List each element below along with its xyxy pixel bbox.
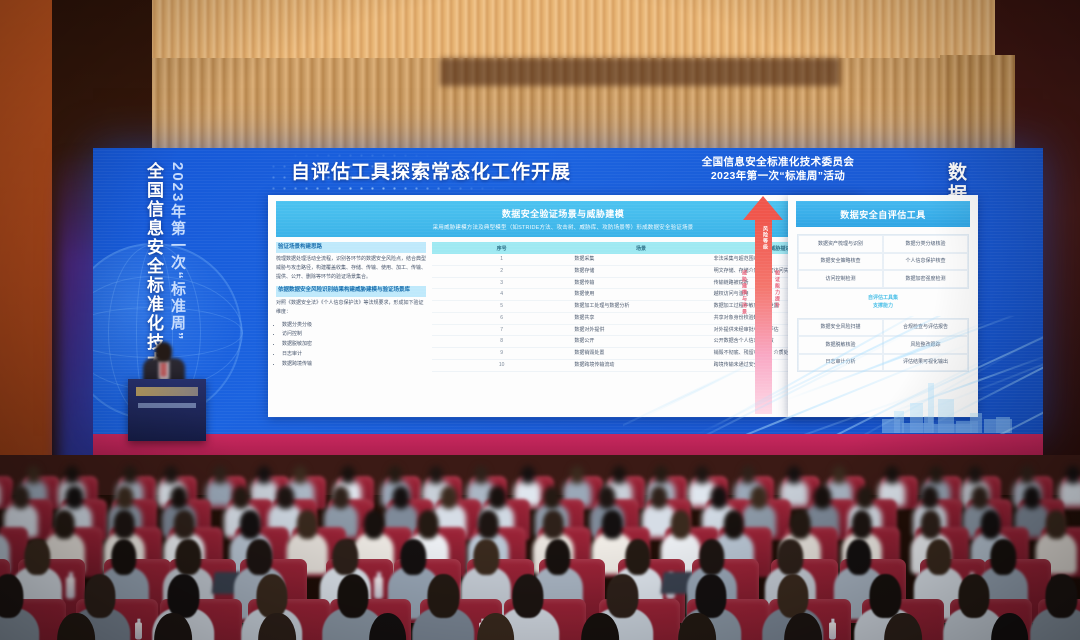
audience-head	[478, 510, 499, 539]
audience-head	[473, 539, 498, 575]
audience-head	[926, 539, 951, 575]
audience-member	[0, 570, 27, 640]
audience-head	[920, 510, 941, 539]
tool-cell: 访问控制检测	[798, 270, 883, 288]
audience-member	[1064, 464, 1080, 504]
audience	[0, 420, 1080, 640]
audience-member	[365, 608, 411, 640]
audience-head	[921, 486, 938, 509]
audience-head	[117, 486, 134, 509]
audience-head	[1020, 466, 1034, 484]
audience-head	[650, 486, 667, 509]
audience-member	[473, 608, 519, 640]
audience-head	[814, 486, 831, 509]
list-item: 日志审计	[282, 350, 426, 360]
speaker-head	[155, 342, 172, 362]
left-orange-panel	[0, 0, 52, 470]
audience-head	[57, 613, 95, 640]
cell-index: 6	[432, 312, 571, 324]
tool-group-label: 自评估工具集 支撑能力	[788, 294, 978, 311]
audience-head	[543, 486, 560, 509]
tool-cell: 个人信息保护核查	[883, 253, 968, 271]
audience-head	[654, 466, 668, 484]
card-text-column: 验证场景构建思路 梳理数据处理活动全流程，识别各环节的数据安全风险点，结合典型威…	[276, 242, 426, 414]
col-header-scene: 场景	[571, 242, 710, 254]
backdrop-shadow	[440, 58, 840, 86]
cell-index: 7	[432, 324, 571, 336]
col-header-index: 序号	[432, 242, 571, 254]
card-banner-title: 数据安全验证场景与威胁建模	[502, 207, 624, 220]
audience-head	[341, 466, 355, 484]
cell-scene: 数据存储	[571, 265, 710, 277]
cell-scene: 数据使用	[571, 289, 710, 301]
arrow-side-label-2: 验证能力提升	[774, 270, 781, 309]
tool-group-label-line2: 支撑能力	[788, 302, 978, 311]
arrow-label: 风险等级	[758, 226, 769, 250]
audience-head	[428, 574, 459, 618]
audience-head	[401, 539, 426, 575]
cell-scene: 数据传输	[571, 277, 710, 289]
slide-title: 自评估工具探索常态化工作开展	[291, 157, 571, 184]
audience-head	[968, 466, 982, 484]
audience-head	[418, 510, 439, 539]
audience-head	[489, 486, 506, 509]
audience-member	[880, 608, 926, 640]
audience-member	[1022, 484, 1043, 534]
audience-head	[581, 613, 619, 640]
audience-head	[24, 539, 49, 575]
audience-head	[570, 466, 584, 484]
audience-head	[392, 486, 409, 509]
cell-index: 5	[432, 301, 571, 313]
audience-head	[884, 613, 922, 640]
tool-group-label-line1: 自评估工具集	[788, 294, 978, 303]
audience-head	[1023, 486, 1040, 509]
left-vertical-banner-line2: 2023年第一次“标准周”	[167, 162, 188, 341]
audience-head	[750, 486, 767, 509]
audience-head	[12, 486, 29, 509]
cell-index: 4	[432, 289, 571, 301]
tool-cell: 数据分类分级核验	[883, 235, 968, 253]
audience-head	[65, 466, 79, 484]
podium-logo	[136, 387, 198, 396]
audience-head	[885, 466, 899, 484]
list-item: 数据脱敏加密	[282, 340, 426, 350]
audience-head	[929, 466, 943, 484]
audience-member	[519, 464, 536, 504]
audience-member	[674, 608, 720, 640]
cell-index: 10	[432, 359, 571, 371]
led-screen: 自评估工具探索常态化工作开展 全国信息安全标准化技术委员会 2023年第一次“标…	[93, 148, 1043, 436]
audience-member	[254, 608, 300, 640]
audience-head	[0, 574, 24, 618]
audience-head	[695, 466, 709, 484]
audience-head	[521, 466, 535, 484]
audience-head	[114, 510, 135, 539]
audience-member	[577, 608, 623, 640]
wood-slat-header	[40, 0, 1050, 60]
audience-head	[678, 613, 716, 640]
audience-head	[1066, 466, 1080, 484]
audience-head	[240, 510, 261, 539]
cell-index: 2	[432, 265, 571, 277]
audience-head	[543, 510, 564, 539]
audience-member	[211, 464, 228, 504]
section-body-2: 对照《数据安全法》《个人信息保护法》等法规要求，形成如下验证维度：	[276, 299, 426, 317]
section-heading-2: 依据数据安全风险识别结果构建威胁建模与验证场景库	[276, 286, 426, 297]
audience-head	[741, 466, 755, 484]
arrow-side-label-1: 威胁建模与场景	[741, 270, 748, 316]
audience-head	[787, 466, 801, 484]
audience-head	[832, 466, 846, 484]
audience-head	[54, 510, 75, 539]
speaker-lanyard	[160, 362, 167, 377]
list-item: 访问控制	[282, 330, 426, 340]
card-banner-subtitle: 采用威胁建模方法及典型模型（如STRIDE方法、攻击树、威胁库、攻防场景等）形成…	[433, 223, 694, 231]
audience-head	[213, 466, 227, 484]
audience-head	[851, 510, 872, 539]
audience-member	[987, 608, 1033, 640]
cell-scene: 数据加工处理与数据分析	[571, 301, 710, 313]
audience-head	[1046, 574, 1077, 618]
audience-head	[297, 510, 318, 539]
audience-head	[258, 613, 296, 640]
section-bullet-list: 数据分类分级 访问控制 数据脱敏加密 日志审计 数据跨境传输	[276, 321, 426, 370]
cell-index: 3	[432, 277, 571, 289]
section-heading-1: 验证场景构建思路	[276, 242, 426, 253]
audience-head	[123, 466, 137, 484]
audience-head	[154, 613, 192, 640]
tool-panel-banner: 数据安全自评估工具	[796, 201, 970, 227]
audience-head	[388, 466, 402, 484]
list-item: 数据分类分级	[282, 321, 426, 331]
org-header-line2: 2023年第一次“标准周”活动	[653, 169, 903, 183]
audience-head	[257, 466, 271, 484]
tool-cell: 数据资产梳理与识别	[798, 235, 883, 253]
list-item: 数据跨境传输	[282, 360, 426, 370]
audience-head	[790, 510, 811, 539]
audience-member	[256, 464, 273, 504]
audience-head	[170, 486, 187, 509]
audience-head	[293, 466, 307, 484]
audience-head	[277, 486, 294, 509]
audience-head	[477, 613, 515, 640]
audience-head	[612, 466, 626, 484]
audience-head	[164, 466, 178, 484]
cell-index: 8	[432, 336, 571, 348]
audience-head	[333, 486, 350, 509]
audience-head	[545, 539, 570, 575]
tool-cell: 数据加密强度检测	[883, 270, 968, 288]
tool-cell: 数据安全策略核查	[798, 253, 883, 271]
audience-head	[670, 510, 691, 539]
audience-head	[174, 510, 195, 539]
tool-grid-group-1: 数据资产梳理与识别数据分类分级核验数据安全策略核查个人信息保护核查访问控制检测数…	[797, 234, 969, 289]
audience-head	[369, 613, 407, 640]
audience-member	[1042, 570, 1080, 640]
audience-head	[784, 613, 822, 640]
audience-member	[780, 608, 826, 640]
audience-head	[474, 466, 488, 484]
audience-head	[599, 486, 616, 509]
audience-head	[856, 486, 873, 509]
conference-photo: 自评估工具探索常态化工作开展 全国信息安全标准化技术委员会 2023年第一次“标…	[0, 0, 1080, 640]
water-bottle	[374, 577, 383, 599]
audience-head	[27, 466, 41, 484]
audience-head	[364, 510, 385, 539]
organization-header: 全国信息安全标准化技术委员会 2023年第一次“标准周”活动	[653, 155, 903, 183]
audience-head	[981, 510, 1002, 539]
audience-member	[150, 608, 196, 640]
audience-head	[990, 539, 1015, 575]
water-bottle	[829, 622, 836, 639]
audience-head	[710, 486, 727, 509]
water-bottle	[136, 622, 143, 639]
audience-head	[972, 486, 989, 509]
audience-head	[958, 574, 989, 618]
audience-member	[53, 608, 99, 640]
audience-head	[602, 510, 623, 539]
arrow-head-icon	[743, 196, 783, 220]
audience-head	[232, 486, 249, 509]
audience-head	[991, 613, 1029, 640]
audience-head	[441, 486, 458, 509]
left-vertical-banner-line1: 全国信息安全标准化技术	[141, 162, 166, 371]
audience-member	[424, 570, 462, 640]
org-header-line1: 全国信息安全标准化技术委员会	[653, 155, 903, 169]
audience-head	[429, 466, 443, 484]
podium-label	[138, 403, 196, 408]
audience-member	[786, 464, 803, 504]
audience-member	[883, 464, 900, 504]
audience-head	[1046, 510, 1067, 539]
section-body-1: 梳理数据处理活动全流程，识别各环节的数据安全风险点，结合典型威胁与攻击路径，构建…	[276, 255, 426, 281]
cell-index: 1	[432, 254, 571, 265]
audience-member	[648, 484, 669, 534]
cell-index: 9	[432, 348, 571, 360]
cell-scene: 数据采集	[571, 254, 710, 265]
water-bottle	[66, 577, 75, 599]
audience-member	[569, 464, 586, 504]
audience-head	[66, 486, 83, 509]
audience-head	[723, 510, 744, 539]
